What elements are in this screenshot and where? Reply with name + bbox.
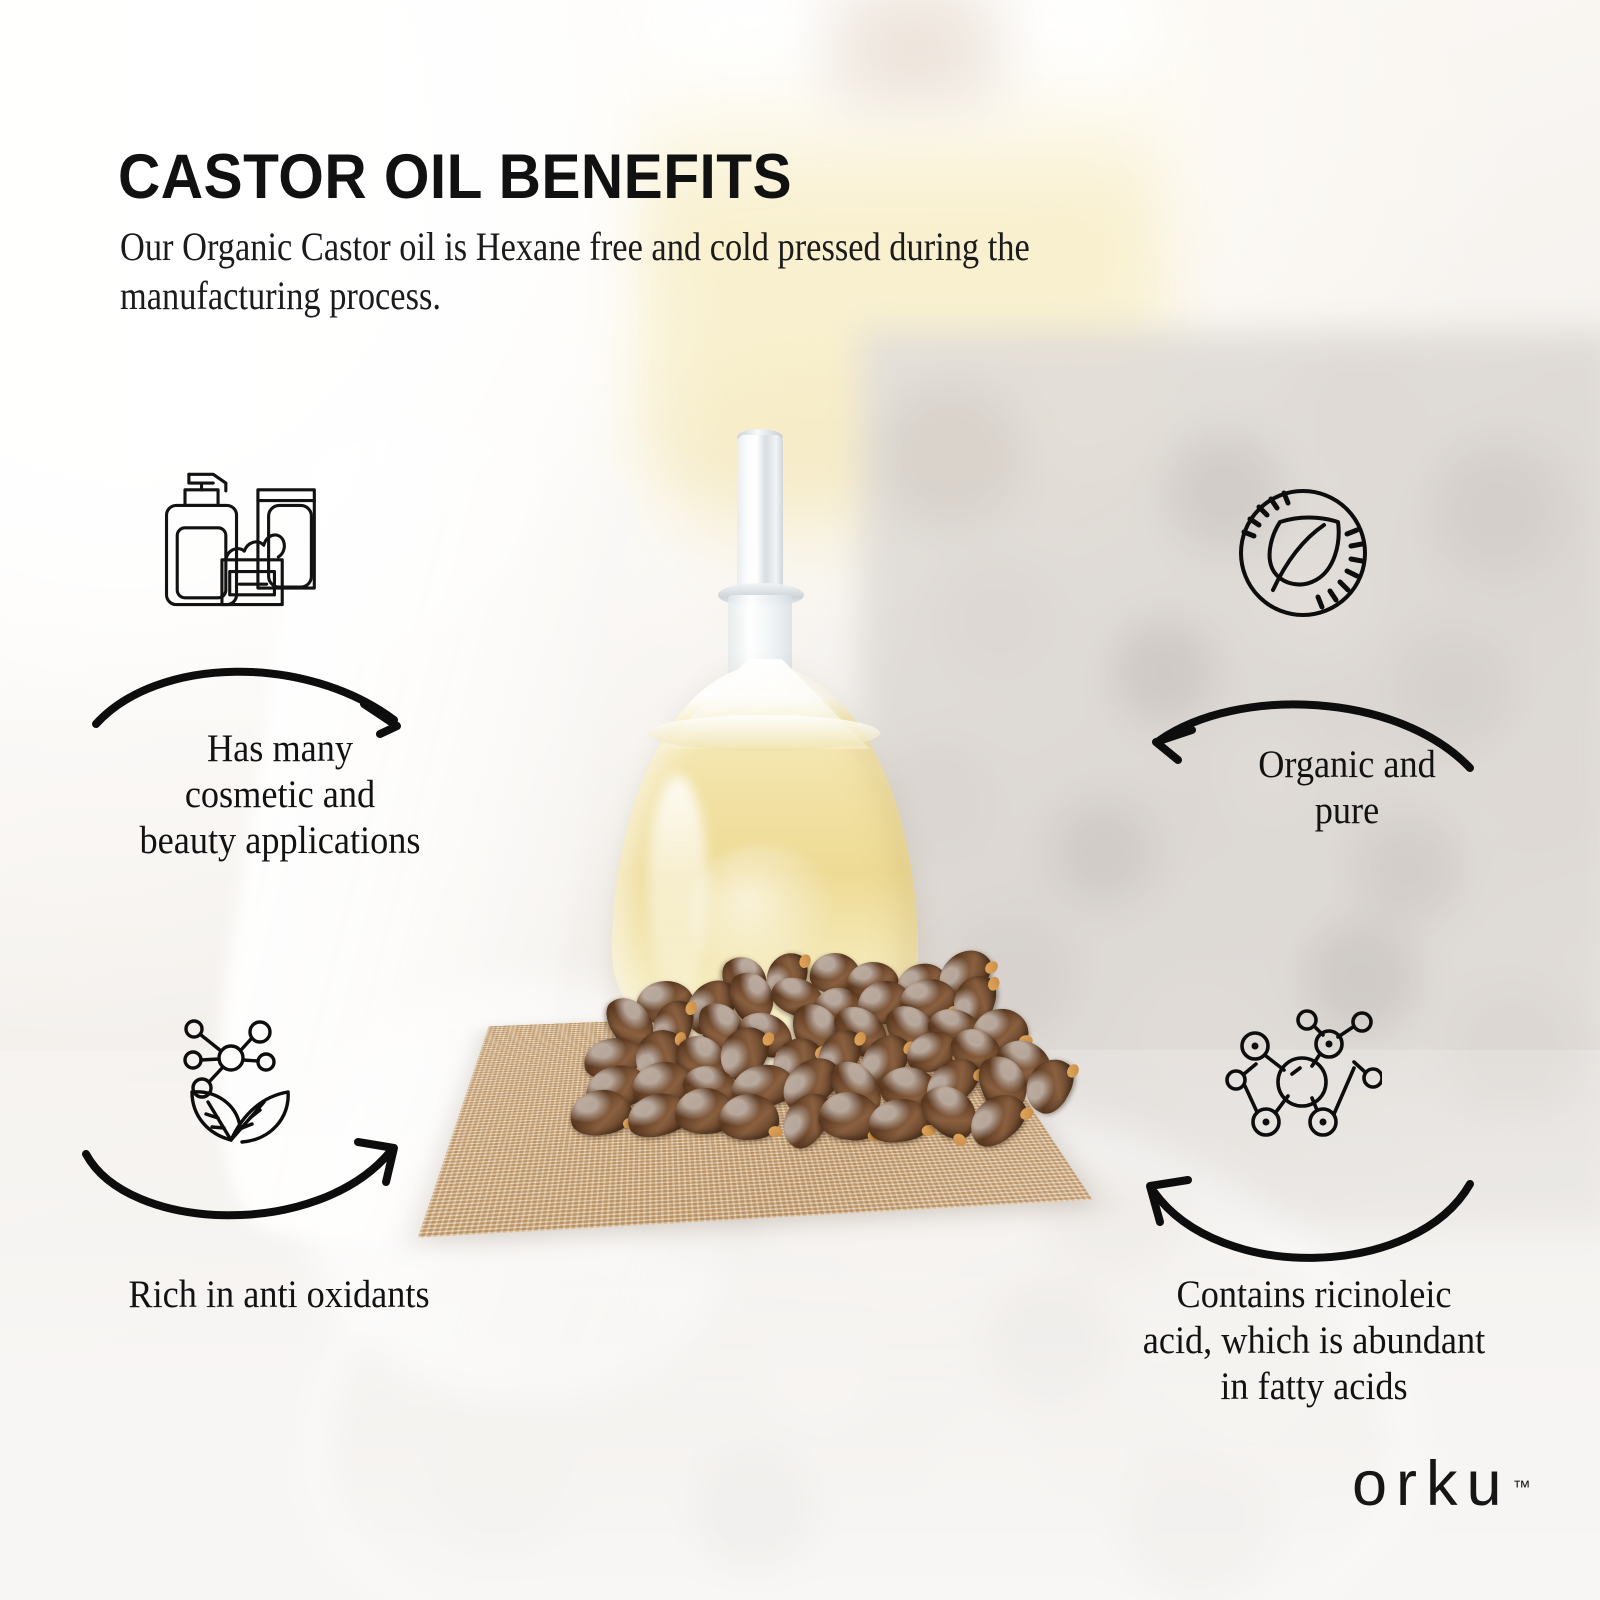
feature-label-cosmetic-applications: Has many cosmetic and beauty application…	[94, 726, 466, 864]
cosmetics-bottle-jar-tube-icon	[150, 450, 325, 625]
page-subtitle: Our Organic Castor oil is Hexane free an…	[120, 222, 1118, 320]
leaf-in-circle-icon	[1228, 478, 1378, 628]
feature-line: in fatty acids	[1119, 1364, 1510, 1410]
curved-arrow-up-right-icon	[78, 1120, 418, 1250]
infographic-canvas: CASTOR OIL BENEFITS Our Organic Castor o…	[0, 0, 1600, 1600]
bottle-stopper	[737, 435, 783, 590]
trademark-symbol: ™	[1513, 1477, 1531, 1497]
curved-arrow-up-left-icon	[1140, 1160, 1480, 1290]
feature-line: Contains ricinoleic	[1119, 1272, 1510, 1318]
feature-label-anti-oxidants: Rich in anti oxidants	[79, 1272, 479, 1318]
product-photo	[430, 415, 1190, 1245]
feature-line: pure	[1184, 788, 1510, 834]
brand-logo: orku™	[1352, 1448, 1531, 1520]
castor-seed-pile	[580, 945, 1050, 1165]
feature-label-ricinoleic-acid: Contains ricinoleic acid, which is abund…	[1119, 1272, 1510, 1410]
feature-label-organic-pure: Organic and pure	[1184, 742, 1510, 834]
feature-line: cosmetic and	[94, 772, 466, 818]
feature-line: Organic and	[1184, 742, 1510, 788]
brand-name: orku	[1352, 1449, 1511, 1519]
page-title: CASTOR OIL BENEFITS	[118, 141, 792, 213]
feature-line: Has many	[94, 726, 466, 772]
feature-line: Rich in anti oxidants	[79, 1272, 479, 1318]
molecule-icon	[1222, 1008, 1382, 1148]
oil-surface	[648, 715, 880, 751]
feature-line: beauty applications	[94, 818, 466, 864]
feature-line: acid, which is abundant	[1119, 1318, 1510, 1364]
